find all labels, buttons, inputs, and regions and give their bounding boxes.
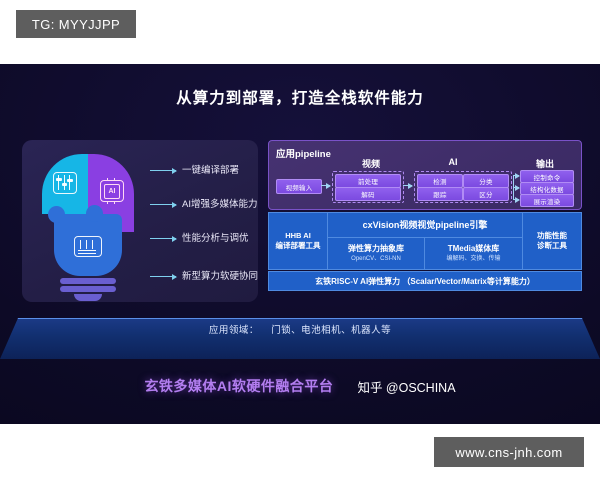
stack-block-hhb-tool: HHB AI 编译部署工具	[268, 212, 328, 270]
slide-canvas: 从算力到部署，打造全栈软件能力 AI	[0, 64, 600, 424]
platform-brand-title: 玄铁多媒体AI软硬件融合平台	[144, 376, 333, 396]
arrow-icon	[513, 199, 519, 200]
stack-block-cxvision-engine: cxVision视频视觉pipeline引擎	[327, 212, 523, 238]
pipeline-node-video-input: 视频输入	[276, 179, 322, 194]
telegram-watermark: TG: MYYJJPP	[16, 10, 136, 38]
pipeline-node-track: 跟踪	[417, 187, 463, 201]
stack-block-line2: 诊断工具	[537, 241, 567, 251]
stack-block-line1: HHB AI	[285, 231, 311, 241]
pipeline-header-video: 视频	[347, 157, 395, 170]
pipeline-header-output: 输出	[521, 157, 569, 170]
stack-block-line1: 功能性能	[537, 231, 567, 241]
feature-label: 新型算力软硬协同	[182, 268, 258, 282]
feature-label: 性能分析与调优	[182, 230, 249, 244]
software-stack: HHB AI 编译部署工具 cxVision视频视觉pipeline引擎 弹性算…	[268, 212, 580, 268]
pipeline-header-ai: AI	[433, 157, 473, 167]
pipeline-node-preprocess: 前处理	[335, 174, 401, 188]
feature-connector-icon	[150, 170, 176, 171]
stack-block-title: TMedia媒体库	[448, 244, 500, 255]
pipeline-node-detect: 检测	[417, 174, 463, 188]
arrow-icon	[513, 187, 519, 188]
domains-label: 应用领域：	[209, 325, 259, 336]
domains-value: 门锁、电池相机、机器人等	[271, 325, 391, 336]
slide-footer: 玄铁多媒体AI软硬件融合平台 知乎 @OSCHINA	[0, 376, 600, 396]
stack-block-line2: 编译部署工具	[276, 241, 321, 251]
stack-block-tmedia-library: TMedia媒体库 编解码、交换、传输	[424, 237, 523, 270]
pipeline-title: 应用pipeline	[276, 146, 331, 160]
pipeline-node-decode: 解码	[335, 187, 401, 201]
stack-block-subtitle: OpenCV、CSI-NN	[351, 255, 401, 263]
slide-title: 从算力到部署，打造全栈软件能力	[0, 86, 600, 108]
feature-label: AI增强多媒体能力	[182, 196, 257, 210]
source-credit: 知乎 @OSCHINA	[357, 377, 455, 396]
arrow-icon	[403, 185, 412, 186]
feature-label: 一键编译部署	[182, 162, 239, 176]
stack-block-subtitle: 编解码、交换、传输	[446, 255, 500, 263]
stack-block-elastic-library: 弹性算力抽象库 OpenCV、CSI-NN	[327, 237, 425, 270]
pipeline-node-classify: 分类	[463, 174, 509, 188]
bulb-base-tip	[74, 294, 102, 301]
slider-icon	[53, 172, 77, 194]
feature-connector-icon	[150, 276, 176, 277]
application-domains: 应用领域： 门锁、电池相机、机器人等	[0, 322, 600, 336]
ai-chip-icon: AI	[100, 180, 124, 202]
arrow-icon	[513, 175, 519, 176]
architecture-panel: 应用pipeline 视频 AI 输出 视频输入 前处理 解码 检测 分类 跟踪…	[268, 140, 580, 302]
capabilities-panel: AI 一键编译部署 AI增强多媒体能力	[22, 140, 258, 302]
pipeline-node-segment: 区分	[463, 187, 509, 201]
stack-block-diagnostic-tool: 功能性能 诊断工具	[522, 212, 582, 270]
stack-block-title: 弹性算力抽象库	[348, 244, 404, 255]
analytics-icon	[74, 236, 102, 257]
bulb-base-ring-1	[60, 278, 116, 284]
feature-connector-icon	[150, 204, 176, 205]
site-watermark: www.cns-jnh.com	[434, 437, 584, 467]
arrow-icon	[321, 185, 330, 186]
feature-connector-icon	[150, 238, 176, 239]
lightbulb-graphic: AI	[36, 148, 144, 296]
stack-block-riscv-compute: 玄铁RISC-V AI弹性算力 （Scalar/Vector/Matrix等计算…	[268, 271, 582, 291]
pipeline-node-display-render: 展示渲染	[520, 194, 574, 207]
bulb-base-ring-2	[60, 286, 116, 292]
